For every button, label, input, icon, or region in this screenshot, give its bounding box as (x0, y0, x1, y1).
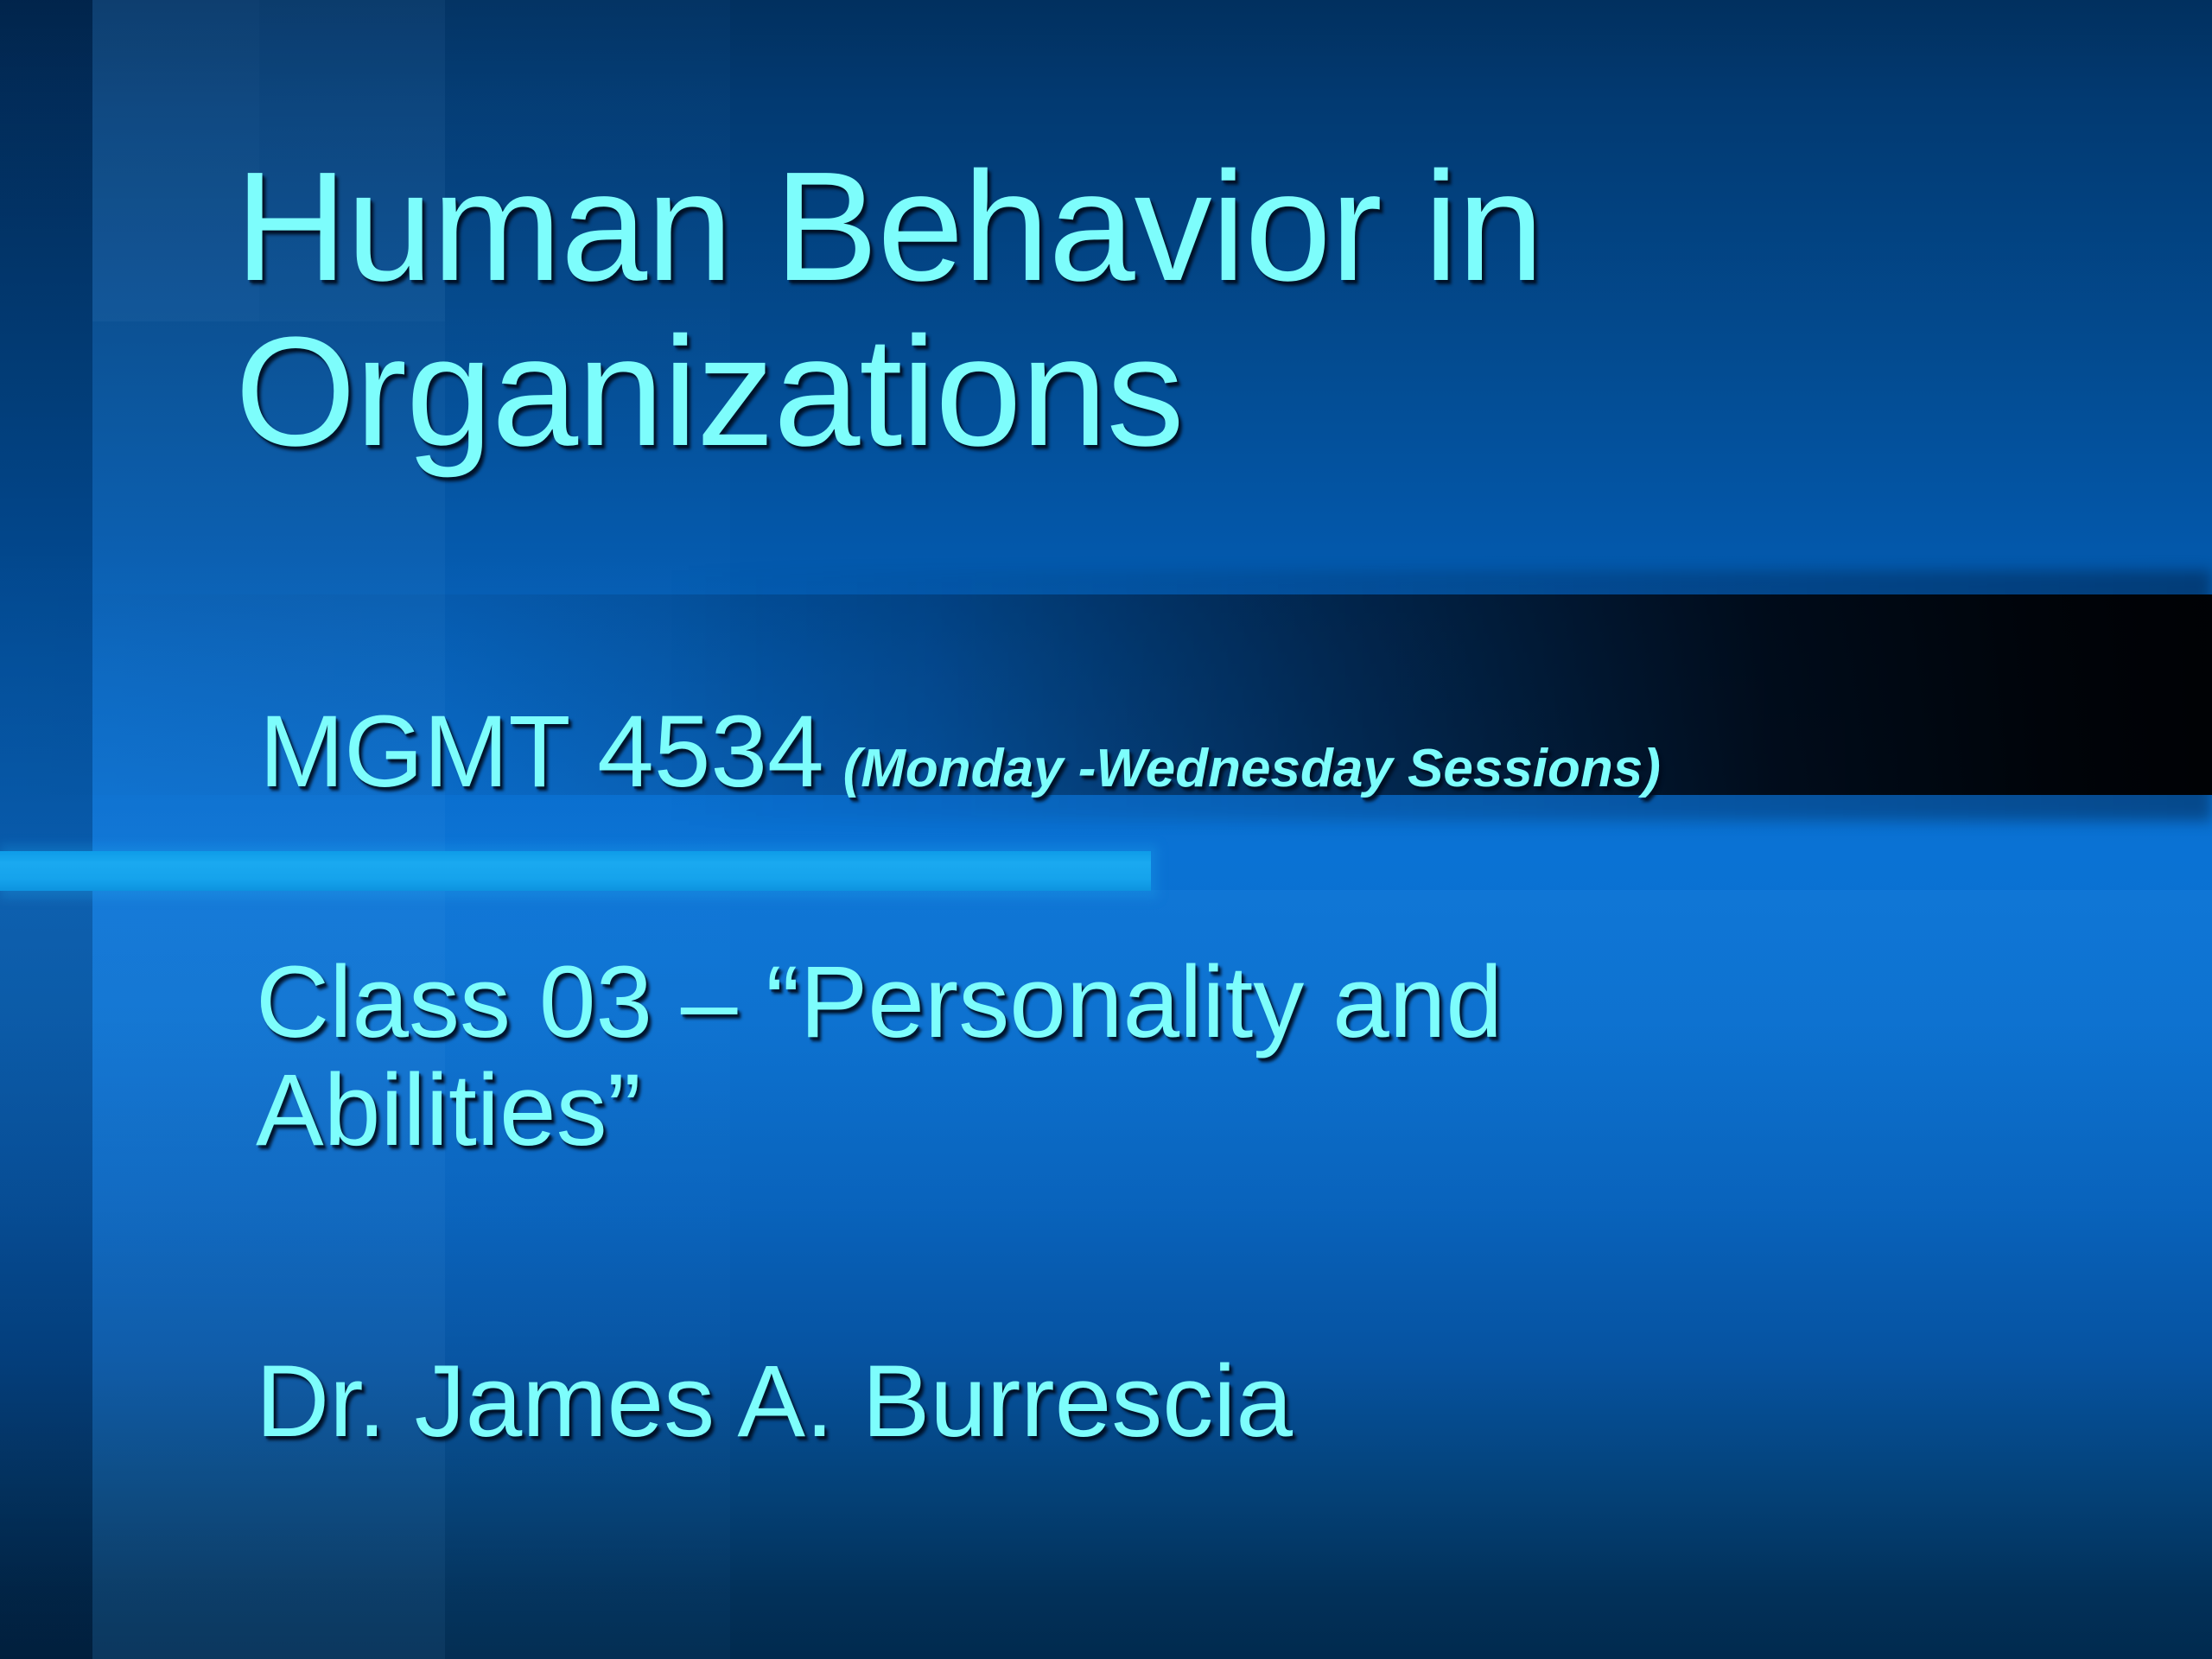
course-line: MGMT 4534(Monday -Wednesday Sessions) (259, 698, 1661, 806)
accent-bar-cyan (0, 851, 1151, 891)
course-sessions: (Monday -Wednesday Sessions) (843, 739, 1661, 798)
presentation-slide: Human Behavior in Organizations MGMT 453… (0, 0, 2212, 1659)
course-code: MGMT 4534 (259, 695, 824, 809)
author-name: Dr. James A. Burrescia (256, 1348, 1293, 1456)
background-left-dark-column (0, 0, 92, 1659)
class-topic: Class 03 – “Personality and Abilities” (256, 949, 1897, 1165)
slide-title: Human Behavior in Organizations (235, 145, 1963, 475)
